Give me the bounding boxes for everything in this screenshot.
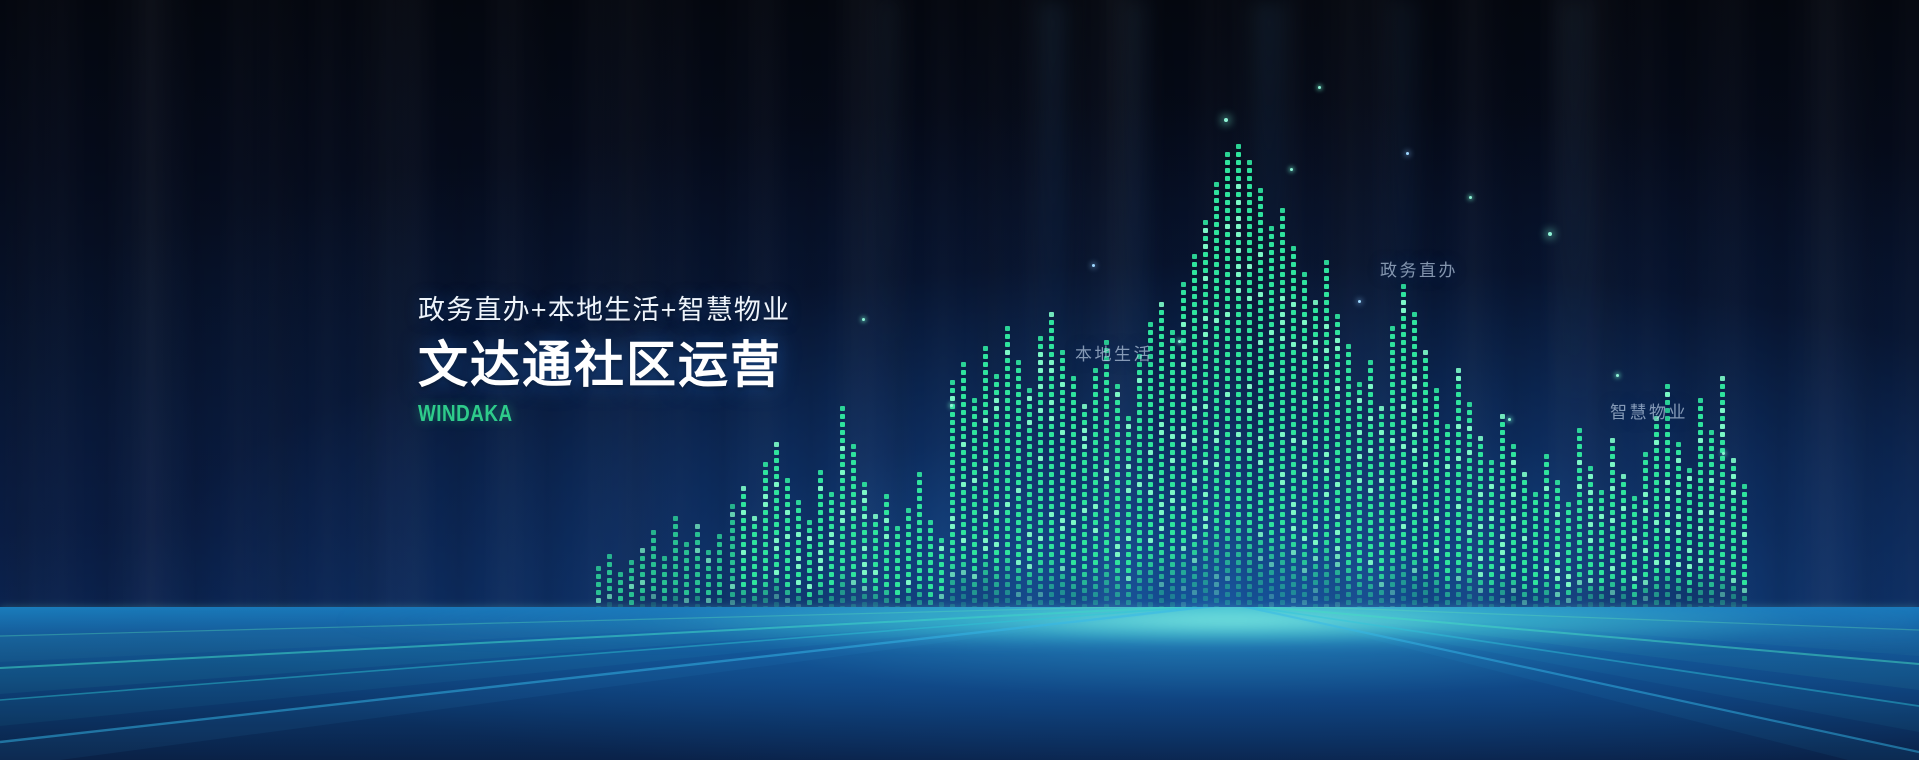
skyline-column bbox=[640, 548, 645, 612]
skyline-label-zhihui-wuye: 智慧物业 bbox=[1610, 398, 1688, 423]
skyline-column bbox=[895, 526, 900, 612]
skyline-column bbox=[1203, 220, 1208, 612]
skyline-column bbox=[928, 520, 933, 612]
skyline-column bbox=[1236, 144, 1241, 612]
skyline-column bbox=[1511, 444, 1516, 612]
skyline-column bbox=[1335, 314, 1340, 612]
skyline-column bbox=[1258, 188, 1263, 612]
skyline-column bbox=[972, 398, 977, 612]
skyline-column bbox=[994, 374, 999, 612]
skyline-column bbox=[1720, 376, 1725, 612]
skyline-column bbox=[1280, 208, 1285, 612]
skyline-column bbox=[1324, 260, 1329, 612]
skyline-column bbox=[1522, 472, 1527, 612]
skyline-column bbox=[906, 508, 911, 612]
skyline-column bbox=[1225, 152, 1230, 612]
skyline-column bbox=[785, 478, 790, 612]
skyline-column bbox=[1478, 436, 1483, 612]
skyline-column bbox=[1533, 492, 1538, 612]
skyline-column bbox=[1577, 428, 1582, 612]
skyline-column bbox=[1181, 282, 1186, 612]
skyline-column bbox=[1390, 326, 1395, 612]
skyline-column bbox=[807, 520, 812, 612]
skyline-column bbox=[873, 514, 878, 612]
skyline-column bbox=[1302, 272, 1307, 612]
skyline-column bbox=[1489, 460, 1494, 612]
skyline-column bbox=[1357, 382, 1362, 612]
skyline-column bbox=[1632, 496, 1637, 612]
skyline-column bbox=[1544, 454, 1549, 612]
skyline-column bbox=[774, 442, 779, 612]
skyline-column bbox=[1731, 458, 1736, 612]
skyline-column bbox=[1115, 384, 1120, 612]
skyline-column bbox=[673, 516, 678, 612]
skyline-column bbox=[629, 560, 634, 612]
skyline-column bbox=[730, 504, 735, 612]
skyline-column bbox=[884, 494, 889, 612]
skyline-column bbox=[618, 572, 623, 612]
skyline-column bbox=[1247, 160, 1252, 612]
skyline-column bbox=[1126, 416, 1131, 612]
skyline-column bbox=[717, 534, 722, 612]
skyline-column bbox=[1687, 468, 1692, 612]
skyline-column bbox=[1698, 398, 1703, 612]
skyline-column bbox=[829, 492, 834, 612]
skyline-column bbox=[695, 524, 700, 612]
hero-title: 文达通社区运营 bbox=[418, 337, 790, 393]
skyline-column bbox=[662, 556, 667, 612]
skyline-column bbox=[1709, 430, 1714, 612]
skyline-column bbox=[752, 516, 757, 612]
skyline-column bbox=[1621, 474, 1626, 612]
skyline-column bbox=[1071, 376, 1076, 612]
hero-copy-block: 政务直办+本地生活+智慧物业 文达通社区运营 WINDAKA bbox=[418, 296, 790, 425]
skyline-column bbox=[818, 470, 823, 612]
skyline-column bbox=[1500, 414, 1505, 612]
skyline-label-bendi-shenghuo: 本地生活 bbox=[1075, 340, 1153, 365]
skyline-column bbox=[607, 554, 612, 612]
skyline-column bbox=[1445, 424, 1450, 612]
skyline-column bbox=[1214, 182, 1219, 612]
skyline-column bbox=[1643, 452, 1648, 612]
perspective-lines bbox=[0, 607, 1919, 760]
skyline-column bbox=[1412, 312, 1417, 612]
skyline-column bbox=[939, 538, 944, 612]
skyline-column bbox=[763, 462, 768, 612]
skyline-column bbox=[1038, 336, 1043, 612]
skyline-column bbox=[1005, 326, 1010, 612]
skyline-column bbox=[684, 542, 689, 612]
skyline-column bbox=[1456, 368, 1461, 612]
skyline-column bbox=[917, 472, 922, 612]
skyline-column bbox=[1555, 480, 1560, 612]
skyline-column bbox=[1467, 402, 1472, 612]
skyline-column bbox=[1049, 312, 1054, 612]
skyline-column bbox=[851, 444, 856, 612]
skyline-column bbox=[706, 550, 711, 612]
skyline-column bbox=[651, 530, 656, 612]
skyline-column bbox=[1588, 466, 1593, 612]
skyline-column bbox=[1170, 330, 1175, 612]
skyline-column bbox=[1676, 442, 1681, 612]
skyline-column bbox=[1291, 246, 1296, 612]
skyline-column bbox=[1379, 406, 1384, 612]
hero-banner: 本地生活 政务直办 智慧物业 政务直办+本地生活+智慧物业 文达通社区运营 WI… bbox=[0, 0, 1919, 760]
skyline-column bbox=[1654, 416, 1659, 612]
skyline-column bbox=[1423, 350, 1428, 612]
skyline-column bbox=[796, 500, 801, 612]
skyline-column bbox=[983, 346, 988, 612]
skyline-column bbox=[1082, 404, 1087, 612]
skyline-column bbox=[1566, 502, 1571, 612]
skyline-column bbox=[741, 486, 746, 612]
skyline-column bbox=[1269, 226, 1274, 612]
skyline-column bbox=[1434, 388, 1439, 612]
skyline-column bbox=[1060, 350, 1065, 612]
skyline-label-zhengwu-zhiban: 政务直办 bbox=[1380, 256, 1458, 281]
skyline-column bbox=[1401, 284, 1406, 612]
skyline-column bbox=[1159, 302, 1164, 612]
skyline-column bbox=[1599, 490, 1604, 612]
brand-wordmark: WINDAKA bbox=[418, 402, 723, 425]
skyline-column bbox=[596, 566, 601, 612]
ground-plane bbox=[0, 607, 1919, 760]
skyline-column bbox=[1016, 360, 1021, 612]
skyline-column bbox=[1610, 438, 1615, 612]
skyline-column bbox=[1192, 254, 1197, 612]
skyline-column bbox=[1742, 484, 1747, 612]
skyline-column bbox=[1027, 388, 1032, 612]
skyline-column bbox=[862, 482, 867, 612]
skyline-column bbox=[1368, 360, 1373, 612]
skyline-column bbox=[1093, 368, 1098, 612]
skyline-column bbox=[961, 362, 966, 612]
skyline-column bbox=[1313, 300, 1318, 612]
skyline-column bbox=[1346, 344, 1351, 612]
skyline-column bbox=[950, 380, 955, 612]
skyline-column bbox=[840, 406, 845, 612]
hero-subtitle: 政务直办+本地生活+智慧物业 bbox=[418, 296, 790, 326]
skyline-column bbox=[1148, 322, 1153, 612]
skyline-column bbox=[1104, 340, 1109, 612]
skyline-column bbox=[1137, 354, 1142, 612]
